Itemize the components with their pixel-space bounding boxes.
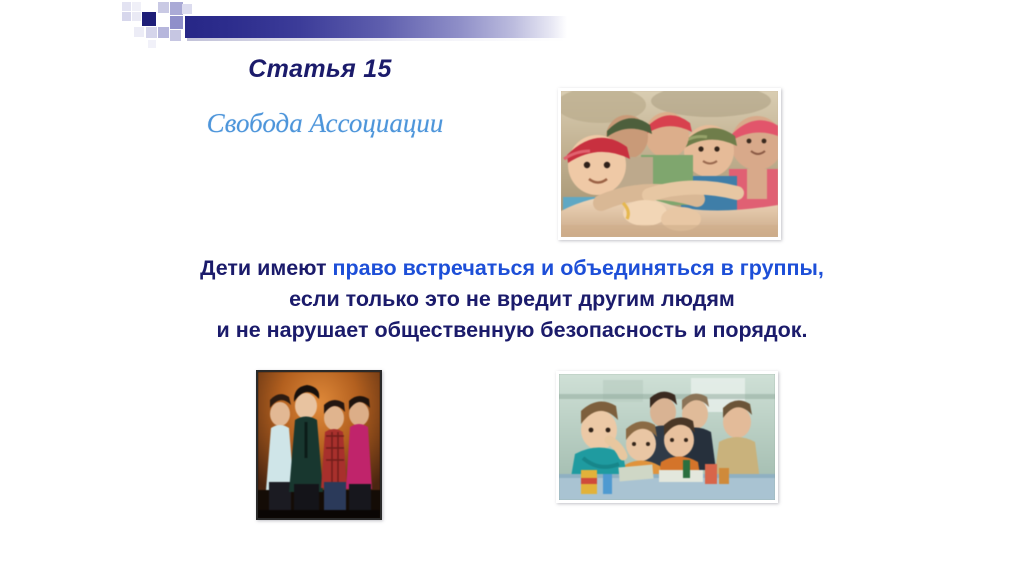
photo-classroom	[556, 371, 778, 503]
body-text-block: Дети имеют право встречаться и объединят…	[52, 253, 972, 346]
mosaic-square	[158, 27, 169, 38]
photo-children-group-image	[561, 91, 778, 237]
slide-canvas: Статья 15 Свобода Ассоциации Дети имеют …	[0, 0, 1024, 574]
mosaic-square	[122, 2, 131, 11]
body-line-3: и не нарушает общественную безопасность …	[52, 315, 972, 346]
page-title: Статья 15	[150, 55, 490, 84]
photo-classroom-image	[559, 374, 775, 500]
page-subtitle: Свобода Ассоциации	[150, 108, 500, 139]
mosaic-square	[146, 27, 157, 38]
mosaic-square	[182, 4, 192, 14]
gradient-bar	[185, 16, 567, 38]
mosaic-square	[170, 16, 183, 29]
photo-children-group	[558, 88, 781, 240]
body-line-1-highlight: право встречаться и объединяться в групп…	[333, 256, 824, 280]
mosaic-square	[158, 14, 169, 25]
mosaic-square	[142, 12, 156, 26]
mosaic-square	[132, 12, 141, 21]
mosaic-square	[132, 2, 141, 11]
mosaic-square	[158, 2, 169, 13]
body-line-1: Дети имеют право встречаться и объединят…	[52, 253, 972, 284]
photo-band	[256, 370, 382, 520]
body-line-2: если только это не вредит другим людям	[52, 284, 972, 315]
mosaic-square	[134, 27, 144, 37]
mosaic-square	[148, 40, 156, 48]
mosaic-square	[122, 12, 131, 21]
photo-band-image	[258, 372, 380, 518]
body-line-1-plain: Дети имеют	[200, 256, 332, 280]
mosaic-square	[170, 30, 181, 41]
gradient-bar-shadow	[187, 38, 567, 41]
header-decoration	[118, 0, 578, 50]
